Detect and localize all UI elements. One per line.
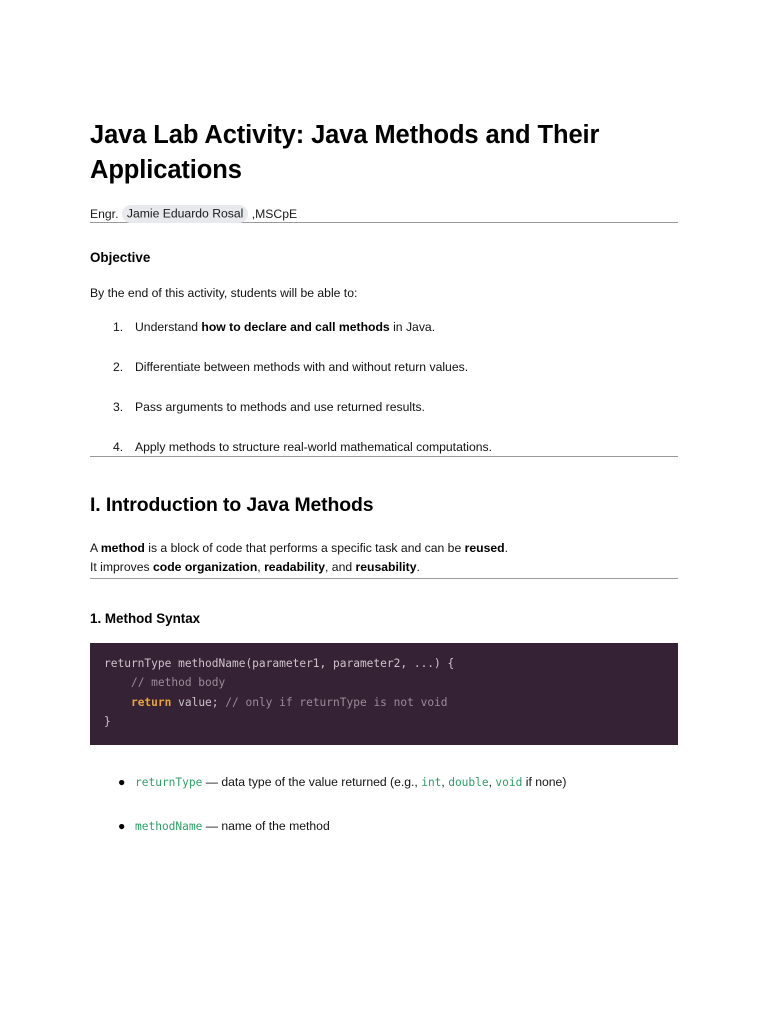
bullet-text: name of the method [221, 819, 329, 833]
objective-heading: Objective [90, 249, 678, 266]
list-item-number: 2. [113, 358, 123, 376]
list-item-number: 3. [113, 398, 123, 416]
list-item: 3.Pass arguments to methods and use retu… [90, 398, 678, 416]
page-title: Java Lab Activity: Java Methods and Thei… [90, 118, 678, 188]
document-page: Java Lab Activity: Java Methods and Thei… [0, 0, 768, 1024]
intro-bold-reusability: reusability [356, 560, 417, 574]
intro-text-6: , and [325, 560, 356, 574]
inline-code-int: int [421, 776, 441, 789]
intro-text-2: is a block of code that performs a speci… [145, 541, 465, 555]
objective-lead-text: By the end of this activity, students wi… [90, 284, 678, 303]
horizontal-rule-3 [90, 578, 678, 579]
code-line-3-mid: value; [171, 696, 225, 709]
bullet-dash: — [202, 775, 221, 789]
list-item-text-pre: Apply methods to structure real-world ma… [135, 440, 492, 454]
list-item-text-pre: Differentiate between methods with and w… [135, 360, 468, 374]
list-item-number: 4. [113, 438, 123, 456]
introduction-heading: I. Introduction to Java Methods [90, 493, 678, 518]
code-line-2-indent [104, 676, 131, 689]
code-keyword-return: return [131, 696, 171, 709]
list-item-text-pre: Understand [135, 320, 201, 334]
list-item: 1.Understand how to declare and call met… [90, 318, 678, 336]
objective-list: 1.Understand how to declare and call met… [90, 318, 678, 456]
introduction-paragraph: A method is a block of code that perform… [90, 539, 678, 578]
list-item-text-bold: how to declare and call methods [201, 320, 389, 334]
author-byline: Engr. Jamie Eduardo Rosal ,MSCpE [90, 206, 678, 222]
intro-bold-code-organization: code organization [153, 560, 257, 574]
code-block-method-syntax: returnType methodName(parameter1, parame… [90, 643, 678, 745]
code-line-3-comment: // only if returnType is not void [225, 696, 447, 709]
method-syntax-heading: 1. Method Syntax [90, 610, 678, 627]
method-syntax-bullets: ●returnType — data type of the value ret… [90, 773, 678, 836]
bullet-dash: — [202, 819, 221, 833]
horizontal-rule-2 [90, 456, 678, 457]
list-item: ●methodName — name of the method [90, 817, 678, 836]
list-item-text-pre: Pass arguments to methods and use return… [135, 400, 425, 414]
bullet-text: data type of the value returned (e.g., [221, 775, 421, 789]
intro-text-1: A [90, 541, 101, 555]
bullet-dot-icon: ● [118, 817, 125, 835]
bullet-dot-icon: ● [118, 773, 125, 791]
inline-code-returntype: returnType [135, 776, 202, 789]
inline-code-void: void [495, 776, 522, 789]
list-item: 4.Apply methods to structure real-world … [90, 438, 678, 456]
intro-text-4: It improves [90, 560, 153, 574]
byline-suffix: ,MSCpE [248, 207, 297, 221]
list-item-number: 1. [113, 318, 123, 336]
list-item-text-post: in Java. [390, 320, 435, 334]
bullet-text-end: if none) [522, 775, 566, 789]
code-line-4: } [104, 715, 111, 728]
intro-bold-readability: readability [264, 560, 325, 574]
intro-text-7: . [417, 560, 420, 574]
intro-bold-method: method [101, 541, 145, 555]
author-name-chip[interactable]: Jamie Eduardo Rosal [122, 205, 249, 223]
list-item: 2.Differentiate between methods with and… [90, 358, 678, 376]
inline-code-double: double [448, 776, 488, 789]
code-line-3-indent [104, 696, 131, 709]
byline-prefix: Engr. [90, 207, 122, 221]
code-line-2-comment: // method body [131, 676, 225, 689]
intro-text-3: . [505, 541, 508, 555]
inline-code-methodname: methodName [135, 820, 202, 833]
list-item: ●returnType — data type of the value ret… [90, 773, 678, 792]
intro-bold-reused: reused [465, 541, 505, 555]
code-line-1: returnType methodName(parameter1, parame… [104, 657, 454, 670]
